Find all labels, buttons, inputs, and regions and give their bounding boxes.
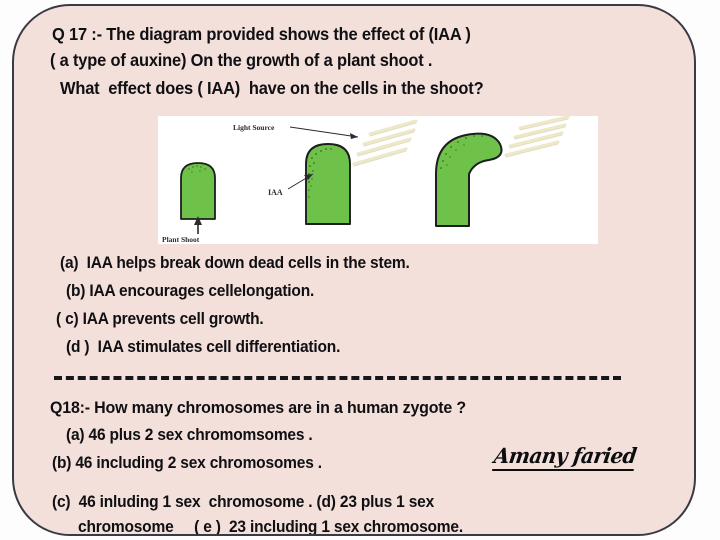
diagram-svg: Light Source IAA Plant Shoot — [158, 116, 598, 244]
shoot-upright-middle — [306, 144, 350, 224]
handwritten-signature: Amany faried — [492, 443, 638, 471]
phototropism-diagram: Light Source IAA Plant Shoot — [158, 116, 598, 244]
shoot-upright-left — [181, 163, 215, 219]
question-18-option-b[interactable]: (b) 46 including 2 sex chromosomes . — [52, 454, 322, 473]
iaa-label: IAA — [268, 188, 283, 197]
question-18-option-a[interactable]: (a) 46 plus 2 sex chromomsomes . — [66, 426, 313, 445]
question-17-line-3: What effect does ( IAA) have on the cell… — [60, 78, 483, 99]
question-17-line-2: ( a type of auxine) On the growth of a p… — [50, 50, 432, 71]
light-source-label: Light Source — [233, 123, 275, 132]
screenshot-root: Q 17 :- The diagram provided shows the e… — [0, 0, 720, 540]
question-18-option-c-and-d[interactable]: (c) 46 inluding 1 sex chromosome . (d) 2… — [52, 493, 434, 512]
question-17-line-1: Q 17 :- The diagram provided shows the e… — [52, 24, 471, 45]
question-17-option-b[interactable]: (b) IAA encourages cellelongation. — [66, 282, 314, 301]
question-17-option-d[interactable]: (d ) IAA stimulates cell differentiation… — [66, 338, 340, 357]
plant-shoot-label: Plant Shoot — [162, 235, 200, 244]
question-17-option-a[interactable]: (a) IAA helps break down dead cells in t… — [60, 254, 410, 273]
exam-question-card: Q 17 :- The diagram provided shows the e… — [12, 4, 696, 536]
shoot-bent-right — [436, 134, 502, 226]
question-17-option-c[interactable]: ( c) IAA prevents cell growth. — [56, 310, 264, 329]
section-divider — [54, 376, 621, 380]
question-18-title: Q18:- How many chromosomes are in a huma… — [50, 398, 466, 418]
question-18-option-d-and-e[interactable]: chromosome ( e ) 23 including 1 sex chro… — [78, 518, 463, 536]
light-source-arrow — [290, 127, 358, 139]
